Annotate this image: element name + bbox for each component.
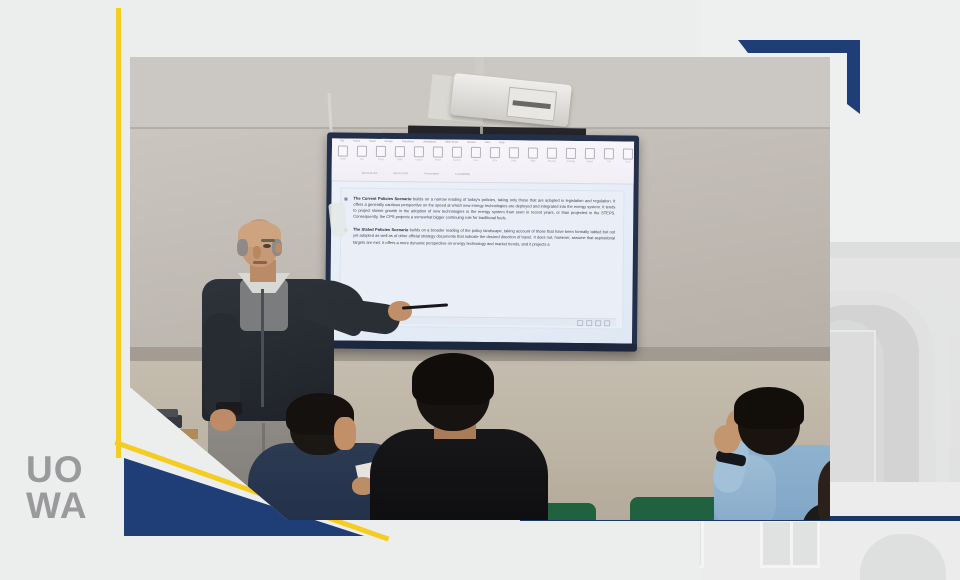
ribbon-note-4: Compatibility xyxy=(455,173,470,176)
slide-bullet: The Stated Policies Scenario builds on a… xyxy=(353,227,615,248)
tab-transitions[interactable]: Transitions xyxy=(402,140,415,143)
section-icon[interactable]: Section xyxy=(452,147,462,162)
banner-canvas: File Home Insert Design Transitions Anim… xyxy=(0,0,960,580)
yellow-vertical-rule xyxy=(116,8,121,458)
align-icon[interactable]: Align xyxy=(528,147,538,162)
audience-member-2-hair xyxy=(412,353,494,405)
ribbon-note-2: Word-to-PDF xyxy=(393,172,408,175)
tab-home[interactable]: Home xyxy=(353,140,360,143)
audience-member-1-face xyxy=(334,417,356,450)
podium-top xyxy=(130,429,198,439)
find-icon[interactable]: Find xyxy=(623,148,633,163)
ribbon-command-row: Paste Cut Copy Slide Layout Reset Sectio… xyxy=(338,145,628,163)
projector-lens-housing xyxy=(506,87,557,122)
bullet-paragraph: The Current Policies Scenario builds on … xyxy=(353,196,615,223)
slideshow-view-icon[interactable] xyxy=(604,320,610,326)
projector-lens-slot xyxy=(512,100,550,109)
ribbon-label: Bold xyxy=(511,159,516,162)
ribbon-label: Fill xyxy=(607,160,610,163)
ribbon-label: Arrange xyxy=(567,160,576,163)
ribbon-label: Slide xyxy=(397,158,402,161)
ribbon-tab-strip: File Home Insert Design Transitions Anim… xyxy=(340,140,505,145)
tab-review[interactable]: Review xyxy=(467,141,476,144)
ribbon-label: Paste xyxy=(340,158,346,161)
ribbon-label: Align xyxy=(530,160,535,163)
watermark-column-right xyxy=(936,280,950,510)
tab-help[interactable]: Help xyxy=(499,141,504,144)
presenter-right-hand xyxy=(388,301,412,321)
quick-styles-icon[interactable]: Styles xyxy=(585,148,595,163)
ribbon-label: Section xyxy=(453,159,461,162)
ribbon-secondary-row: Microsoft 365 Word-to-PDF Presentation C… xyxy=(362,172,470,176)
presenter-eyebrow xyxy=(261,239,275,242)
slide-bullet: The Current Policies Scenario builds on … xyxy=(353,196,615,223)
audience-member-2-body xyxy=(370,429,548,520)
normal-view-icon[interactable] xyxy=(577,320,583,326)
corner-bracket-vertical xyxy=(847,40,860,114)
bold-icon[interactable]: Bold xyxy=(509,147,519,162)
tab-slide-show[interactable]: Slide Show xyxy=(445,141,458,144)
size-icon[interactable]: Size xyxy=(490,147,500,162)
presenter-ear xyxy=(275,243,282,253)
audience-member-3-hair xyxy=(734,387,804,429)
presenter-left-hand xyxy=(210,409,236,431)
ribbon-label: Copy xyxy=(378,158,384,161)
red-notebook xyxy=(134,429,178,434)
ribbon-label: Shapes xyxy=(548,160,556,163)
uowa-logo[interactable]: UO WA xyxy=(26,452,112,530)
reset-icon[interactable]: Reset xyxy=(433,146,443,161)
tab-file[interactable]: File xyxy=(340,140,344,143)
tab-insert[interactable]: Insert xyxy=(369,140,376,143)
bullet-lead: The Current Policies Scenario xyxy=(353,196,411,202)
presentation-ribbon: File Home Insert Design Transitions Anim… xyxy=(332,138,634,184)
reading-view-icon[interactable] xyxy=(595,320,601,326)
ribbon-label: Font xyxy=(473,159,478,162)
tab-animations[interactable]: Animations xyxy=(423,140,436,143)
tab-design[interactable]: Design xyxy=(385,140,393,143)
presenter-hair-left xyxy=(237,239,248,256)
arrange-icon[interactable]: Arrange xyxy=(566,148,576,163)
paste-icon[interactable]: Paste xyxy=(338,145,348,160)
ribbon-note-3: Presentation xyxy=(425,172,440,175)
logo-line-2: WA xyxy=(26,488,112,524)
layout-icon[interactable]: Layout xyxy=(414,146,424,161)
ribbon-label: Find xyxy=(626,160,631,163)
audience-member-3-hand xyxy=(714,425,740,453)
new-slide-icon[interactable]: Slide xyxy=(395,146,405,161)
ribbon-label: Size xyxy=(493,159,498,162)
slide-view-buttons[interactable] xyxy=(577,320,610,326)
bullet-marker-icon xyxy=(344,198,347,201)
logo-line-1: UO xyxy=(26,452,112,488)
ribbon-label: Cut xyxy=(360,158,364,161)
ribbon-label: Layout xyxy=(415,158,422,161)
sorter-view-icon[interactable] xyxy=(586,320,592,326)
presenter-mouth xyxy=(253,261,267,264)
presenter-eye xyxy=(263,244,271,248)
lecture-photograph: File Home Insert Design Transitions Anim… xyxy=(130,57,830,520)
bullet-lead: The Stated Policies Scenario xyxy=(353,227,408,233)
shapes-icon[interactable]: Shapes xyxy=(547,148,557,163)
copy-icon[interactable]: Copy xyxy=(376,146,386,161)
tab-view[interactable]: View xyxy=(485,141,491,144)
presenter-jacket-zip xyxy=(261,289,264,407)
ribbon-note-1: Microsoft 365 xyxy=(362,172,378,175)
font-icon[interactable]: Font xyxy=(471,147,481,162)
fill-icon[interactable]: Fill xyxy=(604,148,614,163)
ribbon-label: Styles xyxy=(587,160,594,163)
ribbon-label: Reset xyxy=(435,159,441,162)
corner-bracket-horizontal xyxy=(738,40,860,53)
whiteboard-marker xyxy=(328,202,347,237)
laptop-lid xyxy=(136,409,178,417)
cut-icon[interactable]: Cut xyxy=(357,146,367,161)
bullet-paragraph: The Stated Policies Scenario builds on a… xyxy=(353,227,615,248)
